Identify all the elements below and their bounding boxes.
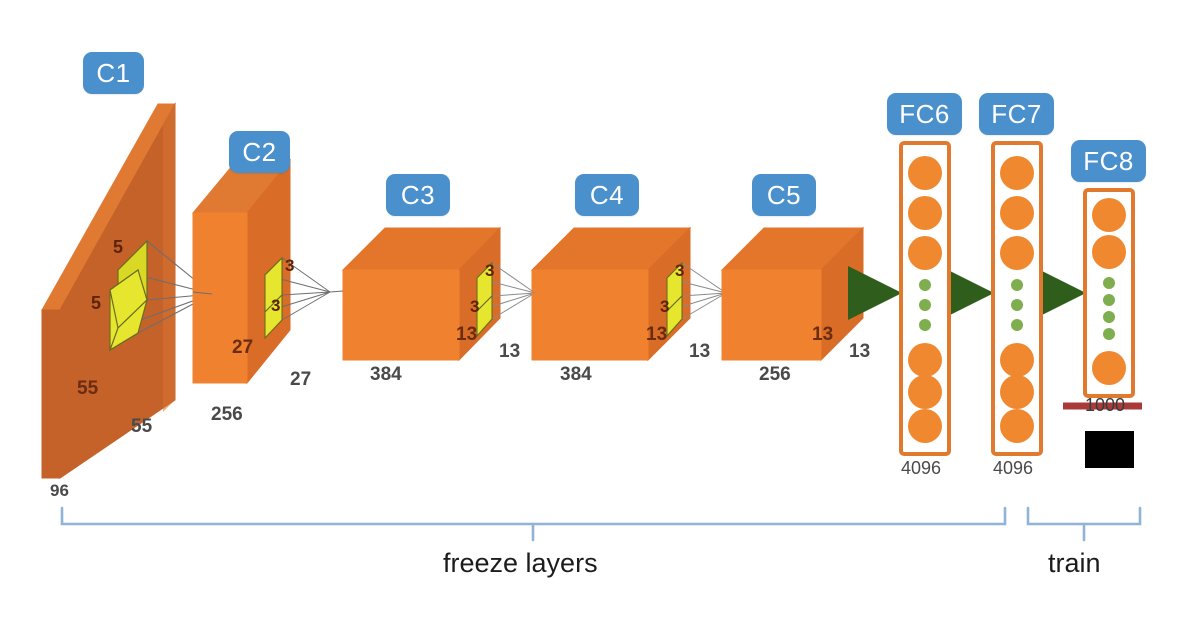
layer-badge-c2[interactable]: C2	[229, 131, 290, 173]
c1-height-label: 55	[77, 379, 98, 398]
c2-depth-label: 27	[290, 370, 311, 389]
c1-channels-label: 96	[50, 482, 69, 499]
layer-badge-c1-label: C1	[96, 60, 130, 86]
layer-badge-fc6[interactable]: FC6	[887, 93, 962, 135]
layer-badge-c4[interactable]: C4	[575, 174, 639, 216]
c4-kernel-side-label: 3	[660, 298, 669, 315]
bracket-caption-train: train	[1048, 548, 1101, 579]
fc7-units-label: 4096	[993, 459, 1033, 477]
bracket-train	[1028, 508, 1140, 540]
layer-badge-c3[interactable]: C3	[386, 174, 450, 216]
layer-badge-c1[interactable]: C1	[83, 52, 144, 94]
c5-channels-label: 256	[759, 365, 791, 384]
c4-height-label: 13	[646, 325, 667, 344]
c3-kernel-top-label: 3	[485, 262, 494, 279]
c3-kernel-side-label: 3	[470, 298, 479, 315]
c2-height-label: 27	[232, 338, 253, 357]
c4-depth-label-2: 13	[689, 342, 710, 361]
c5-height-label: 13	[812, 325, 833, 344]
redaction-block	[1085, 431, 1134, 468]
c3-depth-label: 13	[499, 342, 520, 361]
conv-block-c5	[722, 228, 863, 360]
bracket-freeze-layers	[62, 508, 1005, 540]
fc-column-fc8	[1085, 190, 1133, 396]
c3-channels-label: 384	[370, 365, 402, 384]
layer-badge-c5[interactable]: C5	[752, 174, 816, 216]
connector-c2-c3	[330, 291, 343, 292]
bracket-caption-freeze-layers: freeze layers	[443, 548, 598, 579]
layer-badge-fc7[interactable]: FC7	[979, 93, 1054, 135]
layer-badge-c4-label: C4	[590, 182, 624, 208]
fc8-units-label: 1000	[1085, 396, 1125, 414]
fc-column-fc6	[901, 143, 949, 454]
layer-badge-fc8-label: FC8	[1083, 148, 1134, 174]
layer-badge-fc7-label: FC7	[991, 101, 1042, 127]
fc-column-fc7	[993, 143, 1041, 454]
conv-block-c1	[42, 104, 175, 478]
c1-depth-label: 55	[131, 417, 152, 436]
c1-kernel-top-label: 5	[113, 238, 123, 256]
c2-channels-label: 256	[211, 405, 243, 424]
fc6-units-label: 4096	[901, 459, 941, 477]
c3-height-label: 13	[456, 325, 477, 344]
c2-kernel-side-label: 3	[271, 297, 280, 314]
c4-kernel-top-label: 3	[675, 262, 684, 279]
layer-badge-c2-label: C2	[242, 139, 276, 165]
layer-badge-fc6-label: FC6	[899, 101, 950, 127]
diagram-canvas: C1 C2 C3 C4 C5 FC6 FC7 FC8 5 5 55 55 96 …	[0, 0, 1180, 636]
c4-channels-label: 384	[560, 365, 592, 384]
c1-kernel-side-label: 5	[91, 294, 101, 312]
layer-badge-c5-label: C5	[767, 182, 801, 208]
c2-kernel-top-label: 3	[285, 257, 294, 274]
layer-badge-fc8[interactable]: FC8	[1071, 140, 1146, 182]
c5-depth-label: 13	[849, 342, 870, 361]
layer-badge-c3-label: C3	[401, 182, 435, 208]
